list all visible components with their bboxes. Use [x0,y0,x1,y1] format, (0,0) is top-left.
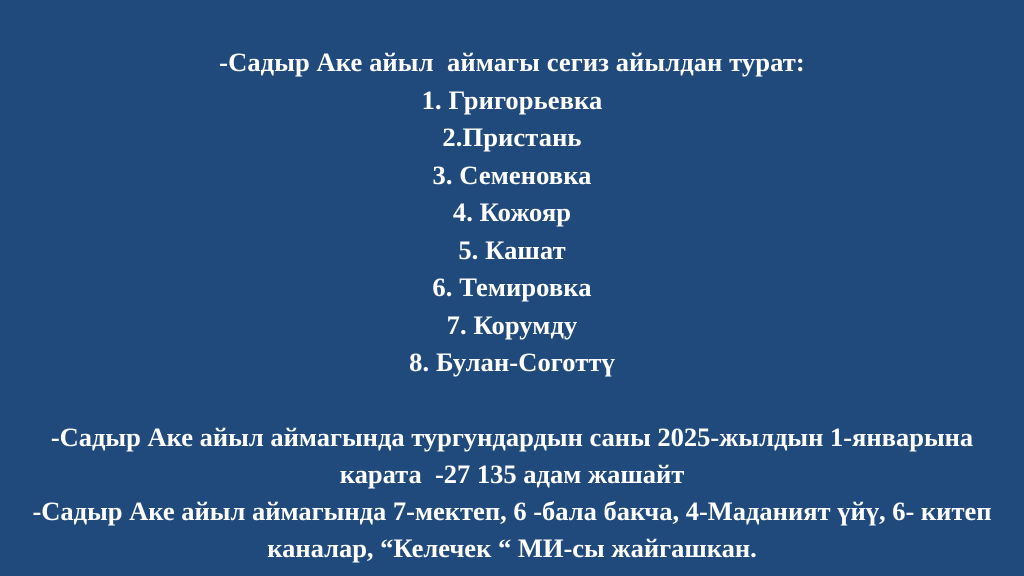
list-item: 6. Темировка [0,269,1024,307]
list-item: 5. Кашат [0,232,1024,270]
list-item: 8. Булан-Соготтү [0,344,1024,382]
list-item: 7. Корумду [0,307,1024,345]
list-item: 2.Пристань [0,119,1024,157]
slide-canvas: -Садыр Аке айыл аймагы сегиз айылдан тур… [0,0,1024,576]
list-item: 1. Григорьевка [0,82,1024,120]
population-statement: -Садыр Аке айыл аймагында тургундардын с… [0,419,1024,493]
slide-content: -Садыр Аке айыл аймагы сегиз айылдан тур… [0,0,1024,576]
list-item: 3. Семеновка [0,157,1024,195]
facilities-statement: -Садыр Аке айыл аймагында 7-мектеп, 6 -б… [0,493,1024,567]
village-list: 1. Григорьевка 2.Пристань 3. Семеновка 4… [0,82,1024,382]
page-title: -Садыр Аке айыл аймагы сегиз айылдан тур… [0,44,1024,82]
list-item: 4. Кожояр [0,194,1024,232]
village-list-block: -Садыр Аке айыл аймагы сегиз айылдан тур… [0,44,1024,382]
statistics-block: -Садыр Аке айыл аймагында тургундардын с… [0,419,1024,567]
